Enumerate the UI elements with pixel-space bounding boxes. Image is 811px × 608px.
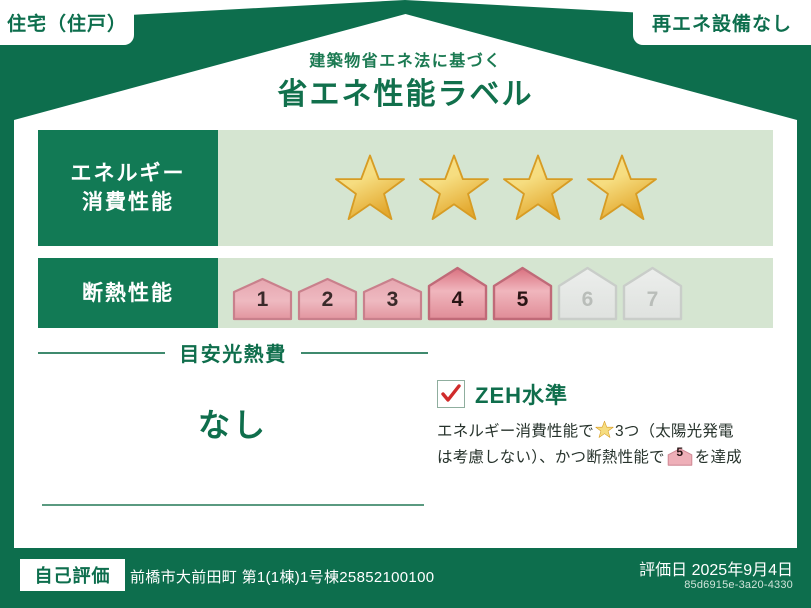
zeh-desc-part2: 3つ（太陽光発電 (615, 423, 734, 440)
evaluation-date: 評価日 2025年9月4日 (639, 556, 793, 580)
zeh-header: ZEH水準 (437, 378, 777, 410)
renewable-energy-tag: 再エネ設備なし (633, 0, 811, 45)
footer: 自己評価 前橋市大前田町 第1(1棟)1号棟25852100100 評価日 20… (0, 548, 811, 608)
energy-label-line1: エネルギー (71, 159, 186, 188)
zeh-title: ZEH水準 (475, 378, 568, 410)
insulation-level-5: 5 (492, 265, 553, 321)
energy-performance-label-box: エネルギー 消費性能 (38, 130, 218, 246)
title-block: 建築物省エネ法に基づく 省エネ性能ラベル (0, 52, 811, 114)
insulation-level-1: 1 (232, 275, 293, 321)
page-title: 省エネ性能ラベル (0, 76, 811, 114)
insulation-level-badge-value: 5 (667, 439, 693, 465)
zeh-description: エネルギー消費性能で3つ（太陽光発電は考慮しない）、かつ断熱性能で5を達成 (437, 419, 777, 471)
insulation-level-badge: 5 (667, 447, 693, 466)
property-address: 前橋市大前田町 第1(1棟)1号棟25852100100 (130, 566, 434, 587)
insulation-label-text: 断熱性能 (82, 279, 174, 308)
energy-performance-row: エネルギー 消費性能 (38, 130, 773, 246)
insulation-performance-row: 断熱性能 (38, 258, 773, 328)
insulation-level-scale: 1 2 3 4 (232, 265, 683, 321)
divider-left (38, 352, 165, 354)
zeh-checkbox[interactable] (437, 380, 465, 408)
utility-cost-bottom-divider (42, 504, 424, 506)
insulation-level-2: 2 (297, 275, 358, 321)
insulation-level-6-value: 6 (557, 288, 618, 312)
star-icon (417, 151, 491, 225)
title-subtitle: 建築物省エネ法に基づく (0, 52, 811, 72)
zeh-standard-block: ZEH水準 エネルギー消費性能で3つ（太陽光発電は考慮しない）、かつ断熱性能で5… (437, 378, 777, 471)
utility-cost-header: 目安光熱費 (38, 338, 428, 367)
insulation-level-4-value: 4 (427, 288, 488, 312)
utility-cost-value: なし (38, 400, 428, 446)
self-evaluation-badge: 自己評価 (20, 559, 125, 591)
building-type-tag: 住宅（住戸） (0, 0, 134, 45)
insulation-level-3-value: 3 (362, 288, 423, 312)
insulation-level-7-value: 7 (622, 288, 683, 312)
zeh-desc-part4: を達成 (695, 449, 742, 466)
energy-label-line2: 消費性能 (82, 188, 174, 217)
divider-right (301, 352, 428, 354)
insulation-level-6: 6 (557, 265, 618, 321)
insulation-level-7: 7 (622, 265, 683, 321)
insulation-performance-value-box: 1 2 3 4 (218, 258, 773, 328)
star-icon (595, 420, 614, 439)
insulation-level-3: 3 (362, 275, 423, 321)
evaluation-id: 85d6915e-3a20-4330 (684, 579, 793, 591)
zeh-desc-part1: エネルギー消費性能で (437, 423, 594, 440)
star-icon (501, 151, 575, 225)
insulation-level-4: 4 (427, 265, 488, 321)
insulation-level-2-value: 2 (297, 288, 358, 312)
insulation-level-5-value: 5 (492, 288, 553, 312)
utility-cost-title: 目安光熱費 (179, 338, 287, 367)
star-icon (333, 151, 407, 225)
energy-performance-value-box (218, 130, 773, 246)
check-icon (440, 383, 462, 405)
energy-performance-label: 住宅（住戸） 再エネ設備なし 建築物省エネ法に基づく 省エネ性能ラベル エネルギ… (0, 0, 811, 608)
star-rating (333, 151, 659, 225)
insulation-performance-label-box: 断熱性能 (38, 258, 218, 328)
insulation-level-1-value: 1 (232, 288, 293, 312)
zeh-desc-part3: は考慮しない）、かつ断熱性能で (437, 449, 665, 466)
star-icon (585, 151, 659, 225)
